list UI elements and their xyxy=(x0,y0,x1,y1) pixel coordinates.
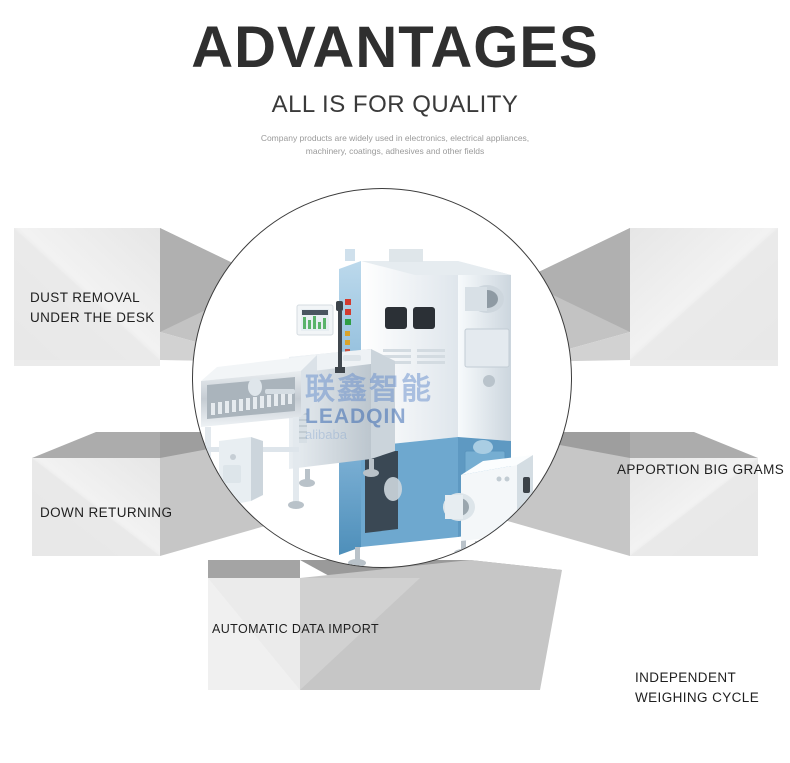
page-lead-text: Company products are widely used in elec… xyxy=(245,132,545,158)
feature-label-automatic-data-import[interactable]: AUTOMATIC DATA IMPORT xyxy=(212,620,379,639)
page-subtitle: ALL IS FOR QUALITY xyxy=(0,91,790,119)
circle-outline: 联鑫智能 LEADQIN alibaba xyxy=(192,188,572,568)
feature-label-independent-weighing-cycle[interactable]: INDEPENDENT WEIGHING CYCLE xyxy=(635,668,759,709)
advantages-diagram: DUST REMOVAL UNDER THE DESK APPORTION BI… xyxy=(0,170,790,710)
feature-label-down-returning[interactable]: DOWN RETURNING xyxy=(40,503,172,523)
feature-label-apportion-big-grams[interactable]: APPORTION BIG GRAMS xyxy=(617,460,784,480)
center-product-circle: 联鑫智能 LEADQIN alibaba xyxy=(192,188,572,568)
product-machine-illustration xyxy=(193,189,572,568)
feature-label-dust-removal[interactable]: DUST REMOVAL UNDER THE DESK xyxy=(30,288,155,329)
page-title: ADVANTAGES xyxy=(0,18,790,79)
page-header: ADVANTAGES ALL IS FOR QUALITY Company pr… xyxy=(0,0,790,158)
